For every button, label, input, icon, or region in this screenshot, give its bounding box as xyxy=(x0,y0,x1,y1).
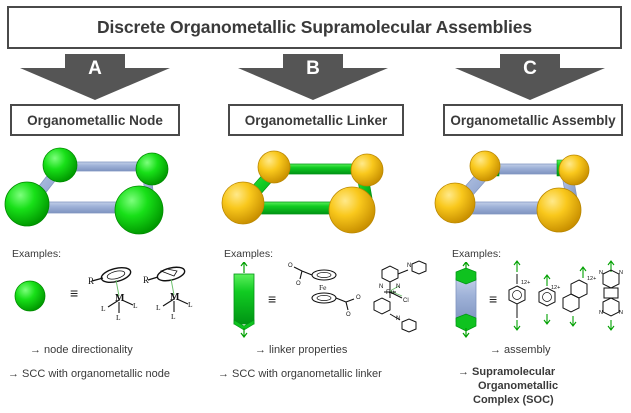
nitrogen-label: N xyxy=(619,310,623,316)
ligand-label: L xyxy=(156,303,161,312)
examples-label-b: Examples: xyxy=(224,248,273,260)
chlorine-label: Cl xyxy=(403,298,409,304)
iron-label: Fe xyxy=(319,283,327,292)
nitrogen-label: N xyxy=(619,270,623,276)
nitrogen-label: N xyxy=(407,263,411,269)
chemical-structures-b: Fe O O O O Ru Cl xyxy=(286,258,431,345)
r-label-2: R xyxy=(143,275,149,285)
charge-label-1: 12+ xyxy=(521,280,530,286)
oxygen-label: O xyxy=(346,312,351,318)
assembly-diagram-b xyxy=(212,140,427,245)
section-label-c: Organometallic Assembly xyxy=(450,113,615,128)
conclusion-b-2: → SCC with organometallic linker xyxy=(218,368,382,380)
equivalence-symbol-b: ≡ xyxy=(268,292,276,306)
figure-title-box: Discrete Organometallic Supramolecular A… xyxy=(7,6,622,49)
arrow-letter-a: A xyxy=(20,58,170,80)
section-label-b: Organometallic Linker xyxy=(245,113,388,128)
chemical-structures-c: 12+ 12+ 12+ N N N N xyxy=(505,258,627,345)
charge-label-2: 12+ xyxy=(551,285,560,291)
blue-cylinder-icon xyxy=(448,262,488,338)
figure-root: Discrete Organometallic Supramolecular A… xyxy=(0,0,631,413)
arrow-down-b: B xyxy=(238,54,388,100)
conclusion-c-4: Complex (SOC) xyxy=(473,394,554,406)
oxygen-label: O xyxy=(296,281,301,287)
ferrocene-and-nhc-svg: Fe O O O O Ru Cl xyxy=(286,258,431,340)
arrow-letter-b: B xyxy=(238,58,388,80)
green-sphere-icon xyxy=(12,278,52,314)
green-sphere-node-glyph xyxy=(12,278,52,319)
assembly-svg-c xyxy=(427,140,631,240)
nitrogen-label: N xyxy=(396,316,400,322)
oxygen-label: O xyxy=(356,295,361,301)
ligand-label: L xyxy=(188,300,193,309)
chemical-structures-a: R R M M L L L L L L xyxy=(88,262,198,333)
ruthenium-label: Ru xyxy=(386,289,395,296)
nitrogen-label: N xyxy=(599,270,603,276)
conclusion-a-1: → node directionality xyxy=(30,344,133,356)
examples-label-c: Examples: xyxy=(452,248,501,260)
equivalence-symbol-c: ≡ xyxy=(489,292,497,306)
arrow-letter-c: C xyxy=(455,58,605,80)
half-sandwich-complexes-svg: R R M M L L L L L L xyxy=(88,262,198,328)
nitrogen-label: N xyxy=(379,284,383,290)
nitrogen-label: N xyxy=(396,284,400,290)
metal-label-2: M xyxy=(170,292,180,303)
conclusion-c-1: → assembly xyxy=(490,344,551,356)
ligand-label: L xyxy=(171,312,176,321)
assembly-diagram-c xyxy=(427,140,631,245)
nitrogen-label: N xyxy=(599,310,603,316)
ligand-label: L xyxy=(101,304,106,313)
oxygen-label: O xyxy=(288,263,293,269)
page-title: Discrete Organometallic Supramolecular A… xyxy=(97,17,532,38)
conclusion-c-2: → Supramolecular xyxy=(458,366,555,378)
metal-label-1: M xyxy=(115,293,125,304)
section-label-box-b: Organometallic Linker xyxy=(228,104,404,136)
green-cylinder-linker-glyph xyxy=(226,262,266,343)
section-label-box-c: Organometallic Assembly xyxy=(443,104,623,136)
examples-label-a: Examples: xyxy=(12,248,61,260)
r-label-1: R xyxy=(88,276,94,286)
ligand-label: L xyxy=(133,301,138,310)
arrow-down-c: C xyxy=(455,54,605,100)
green-cylinder-icon xyxy=(226,262,266,338)
section-label-a: Organometallic Node xyxy=(27,113,163,128)
conclusion-b-1: → linker properties xyxy=(255,344,347,356)
ligand-set-svg: 12+ 12+ 12+ N N N N xyxy=(505,258,627,340)
assembly-svg-a xyxy=(0,140,212,240)
conclusion-c-3: Organometallic xyxy=(478,380,558,392)
arrow-down-a: A xyxy=(20,54,170,100)
assembly-svg-b xyxy=(212,140,427,240)
blue-cylinder-green-cap-assembly-glyph xyxy=(448,262,488,343)
section-label-box-a: Organometallic Node xyxy=(10,104,180,136)
charge-label-3: 12+ xyxy=(587,276,596,282)
equivalence-symbol-a: ≡ xyxy=(70,286,78,300)
conclusion-a-2: → SCC with organometallic node xyxy=(8,368,170,380)
ligand-label: L xyxy=(116,313,121,322)
assembly-diagram-a xyxy=(0,140,212,245)
